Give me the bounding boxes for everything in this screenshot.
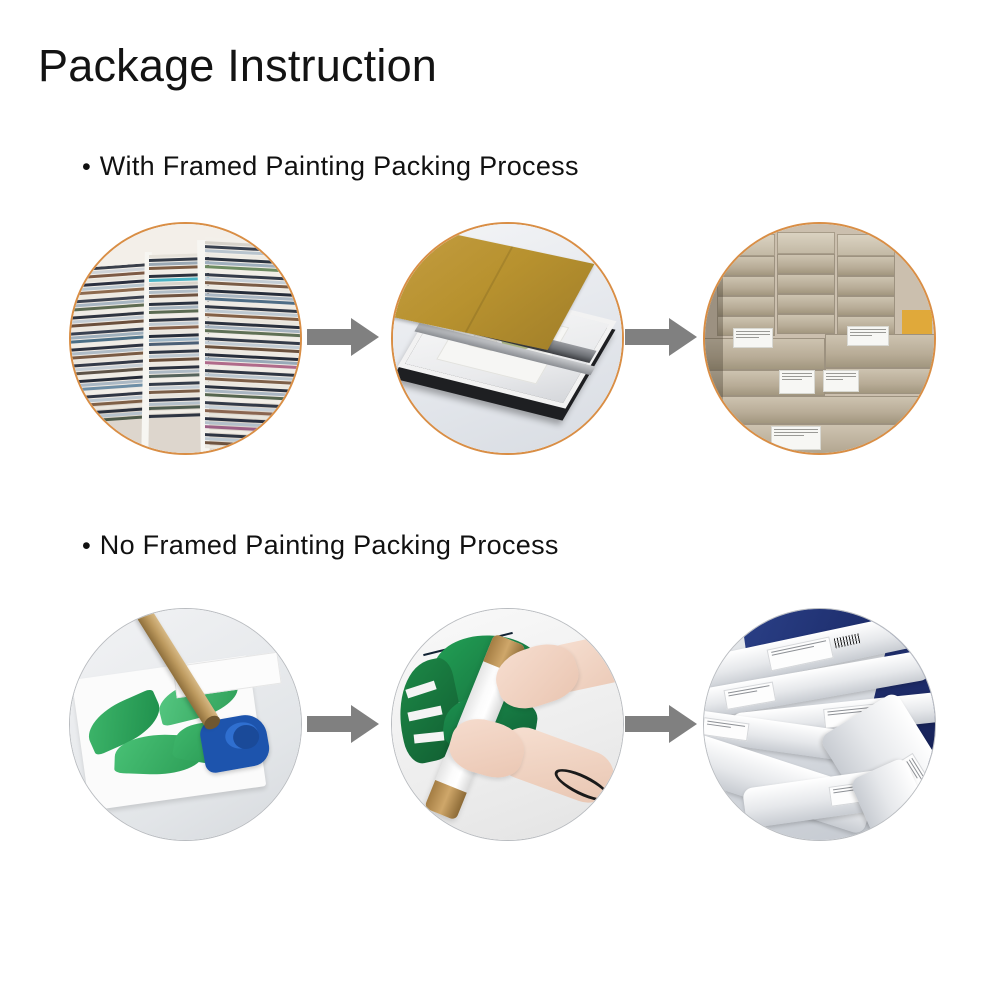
print-stack-left (71, 263, 151, 453)
step-image-framed-2-carton (391, 222, 624, 455)
carton (717, 256, 775, 276)
shipping-label (733, 328, 773, 348)
scene-palletized-labelled-cartons (705, 224, 934, 453)
bullet-point-icon: • (82, 152, 91, 182)
section-heading-label: No Framed Painting Packing Process (100, 529, 559, 561)
carton (717, 296, 775, 316)
carton (777, 232, 835, 254)
scene-stacks-of-framed-paintings (71, 224, 300, 453)
arrow-unframed-step-1-to-2 (307, 705, 379, 743)
bullet-point-icon: • (82, 531, 91, 561)
section-heading-framed: • With Framed Painting Packing Process (82, 150, 579, 182)
carton (717, 276, 775, 296)
page-title: Package Instruction (38, 41, 437, 91)
step-image-unframed-2-wrapping (391, 608, 624, 841)
arrow-framed-step-2-to-3 (625, 318, 697, 356)
shipping-label (771, 426, 821, 450)
step-image-framed-1-stacks (69, 222, 302, 455)
shipping-label (847, 326, 889, 346)
carton (837, 296, 895, 316)
shipping-label (779, 370, 815, 394)
print-stack-right (205, 237, 300, 453)
arrow-unframed-step-2-to-3 (625, 705, 697, 743)
carton (717, 234, 775, 256)
scene-hands-wrapping-tube (392, 609, 623, 840)
step-image-unframed-1-materials (69, 608, 302, 841)
carton (777, 314, 835, 334)
carton (837, 234, 895, 256)
arrow-framed-step-1-to-2 (307, 318, 379, 356)
scene-framed-painting-in-carton (393, 224, 622, 453)
carton (777, 294, 835, 314)
carton (705, 396, 934, 424)
barcode (834, 633, 862, 648)
step-image-unframed-3-tube-pile (703, 608, 936, 841)
carton (837, 276, 895, 296)
carton (837, 256, 895, 276)
carton (777, 254, 835, 274)
package-instruction-page: Package Instruction • With Framed Painti… (0, 0, 1000, 1000)
scene-rolled-canvas-tube-and-tape (70, 609, 301, 840)
scene-pile-of-labelled-tubes (704, 609, 935, 840)
step-image-framed-3-stacked-cartons (703, 222, 936, 455)
section-heading-label: With Framed Painting Packing Process (100, 150, 579, 182)
scene-shadow (705, 224, 723, 453)
shipping-label (723, 682, 776, 710)
section-heading-unframed: • No Framed Painting Packing Process (82, 529, 559, 561)
shipping-label (823, 370, 859, 392)
carton (777, 274, 835, 294)
shipping-label (767, 636, 834, 671)
